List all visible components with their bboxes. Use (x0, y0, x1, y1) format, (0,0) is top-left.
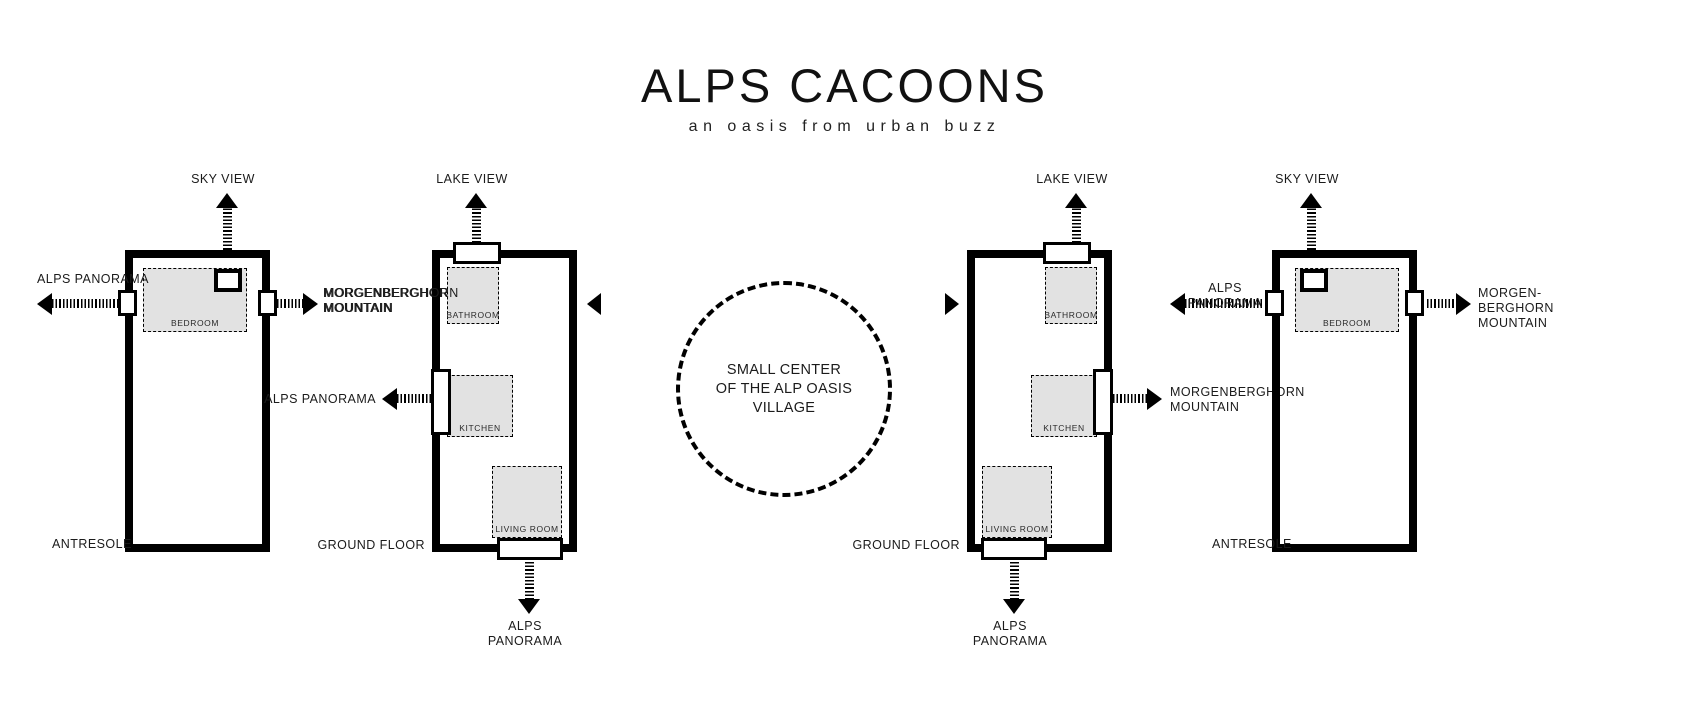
wall-top (125, 250, 270, 258)
view-arrow-shaft-morgen (277, 299, 303, 308)
room-label: LIVING ROOM (495, 524, 558, 537)
view-arrow-head-lake (1065, 193, 1087, 208)
page-title: ALPS CACOONS (0, 62, 1689, 109)
view-arrow-shaft-alps-down (525, 562, 534, 601)
room-label: KITCHEN (1043, 423, 1085, 436)
view-arrow-head-morgen (1147, 388, 1162, 410)
view-arrow-head-alps-down (518, 599, 540, 614)
view-label-alps-panorama-down: ALPS PANORAMA (955, 619, 1065, 649)
view-arrow-shaft-lake (472, 205, 481, 243)
view-arrow-shaft-morgen (1113, 394, 1147, 403)
view-label-alps-panorama: ALPS PANORAMA (1170, 281, 1280, 311)
view-arrow-head-morgen (1456, 293, 1471, 315)
room-bathroom: BATHROOM (1045, 267, 1097, 324)
room-label: KITCHEN (459, 423, 501, 436)
room-label: LIVING ROOM (985, 524, 1048, 537)
room-living-room: LIVING ROOM (982, 466, 1052, 538)
room-label: BEDROOM (171, 318, 219, 331)
view-arrow-head-sky (216, 193, 238, 208)
view-label-morgenberghorn: MORGEN- BERGHORN MOUNTAIN (1478, 286, 1593, 331)
view-label-sky-view: SKY VIEW (163, 172, 283, 187)
window-left (431, 369, 451, 435)
floor-label-ground-floor: GROUND FLOOR (310, 538, 425, 553)
view-label-alps-panorama: ALPS PANORAMA (37, 272, 167, 287)
wall-left (967, 250, 975, 552)
skylight-box (1300, 269, 1328, 292)
room-kitchen: KITCHEN (447, 375, 513, 437)
wall-right (569, 250, 577, 552)
village-center-circle: SMALL CENTER OF THE ALP OASIS VILLAGE (676, 281, 892, 497)
view-arrow-head-alps (37, 293, 52, 315)
view-label-alps-panorama-down: ALPS PANORAMA (470, 619, 580, 649)
floor-label-antresole: ANTRESOLE (1212, 537, 1322, 552)
view-arrow-head-alps-down (1003, 599, 1025, 614)
room-kitchen: KITCHEN (1031, 375, 1097, 437)
view-arrow-head-sky (1300, 193, 1322, 208)
view-label-lake-view: LAKE VIEW (412, 172, 532, 187)
view-arrow-shaft-alps (52, 299, 118, 308)
floor-label-ground-floor: GROUND FLOOR (845, 538, 960, 553)
window-bottom (981, 538, 1047, 560)
room-living-room: LIVING ROOM (492, 466, 562, 538)
view-arrow-head-village (945, 293, 959, 315)
view-label-morgenberghorn: MORGENBERGHORN MOUNTAIN (324, 286, 434, 316)
wall-top (1272, 250, 1417, 258)
view-label-sky-view: SKY VIEW (1247, 172, 1367, 187)
window-right (1405, 290, 1424, 316)
view-arrow-head-morgen (587, 293, 601, 315)
view-label-alps-panorama: ALPS PANORAMA (264, 392, 376, 407)
room-label: BATHROOM (446, 310, 499, 323)
window-right (258, 290, 277, 316)
page-subtitle: an oasis from urban buzz (0, 118, 1689, 136)
skylight-box (214, 269, 242, 292)
view-arrow-shaft-morgen (1427, 299, 1456, 308)
view-arrow-shaft-sky (223, 205, 232, 250)
village-center-label: SMALL CENTER OF THE ALP OASIS VILLAGE (716, 361, 852, 418)
view-arrow-head-morgen (303, 293, 318, 315)
diagram-canvas: ALPS CACOONS an oasis from urban buzz BE… (0, 0, 1689, 722)
window-top (1043, 242, 1091, 264)
window-bottom (497, 538, 563, 560)
room-label: BATHROOM (1044, 310, 1097, 323)
window-right (1093, 369, 1113, 435)
floor-label-antresole: ANTRESOLE (52, 537, 162, 552)
view-label-morgenberghorn: MORGENBERGHORN MOUNTAIN (1170, 385, 1285, 415)
view-arrow-shaft-lake (1072, 205, 1081, 243)
window-left (118, 290, 137, 316)
view-label-lake-view: LAKE VIEW (1012, 172, 1132, 187)
view-arrow-head-lake (465, 193, 487, 208)
view-arrow-shaft-sky (1307, 205, 1316, 250)
room-label: BEDROOM (1323, 318, 1371, 331)
window-top (453, 242, 501, 264)
view-arrow-shaft-alps (397, 394, 431, 403)
view-arrow-head-alps (382, 388, 397, 410)
view-arrow-shaft-alps-down (1010, 562, 1019, 601)
